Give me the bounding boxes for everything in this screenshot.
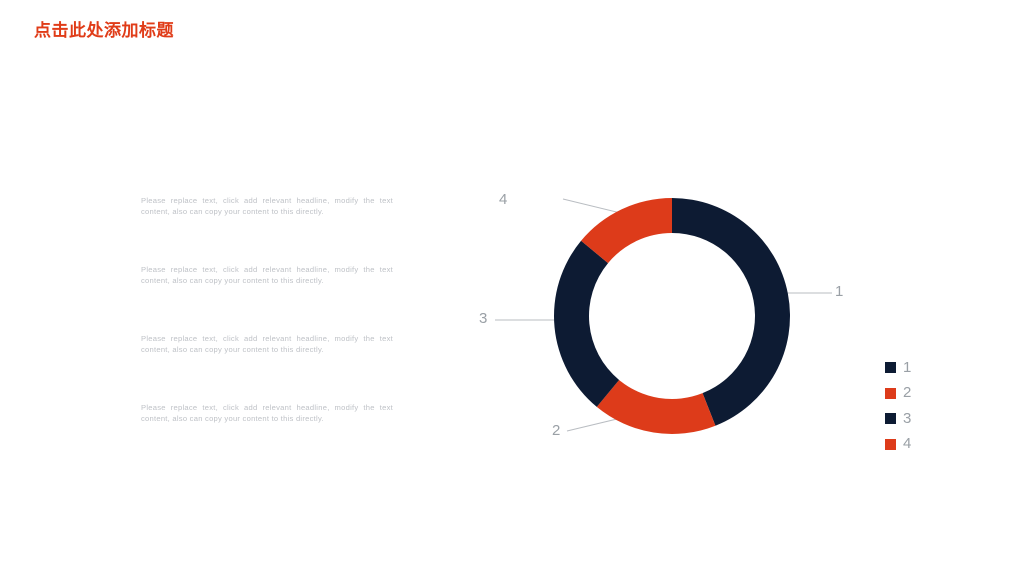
text-block: Please replace text, click add relevant … <box>141 402 393 471</box>
callout-label-3: 3 <box>479 311 487 327</box>
text-block-body: Please replace text, click add relevant … <box>141 402 393 425</box>
text-column: Please replace text, click add relevant … <box>141 195 393 471</box>
callout-label-4: 4 <box>499 192 507 208</box>
text-block-body: Please replace text, click add relevant … <box>141 333 393 356</box>
legend-label: 3 <box>903 411 911 427</box>
legend-label: 2 <box>903 385 911 401</box>
legend-swatch-icon <box>885 388 896 399</box>
legend-swatch-icon <box>885 362 896 373</box>
text-block-body: Please replace text, click add relevant … <box>141 195 393 218</box>
callout-label-2: 2 <box>552 423 560 439</box>
text-block: Please replace text, click add relevant … <box>141 264 393 333</box>
legend-label: 4 <box>903 436 911 452</box>
legend-label: 1 <box>903 360 911 376</box>
donut-chart: 1 2 3 4 <box>455 170 875 460</box>
legend-item[interactable]: 3 <box>885 406 955 432</box>
legend-swatch-icon <box>885 413 896 424</box>
donut-ring <box>553 197 791 435</box>
donut-slice-1[interactable] <box>672 198 790 426</box>
page-title: 点击此处添加标题 <box>34 18 174 44</box>
chart-legend: 1 2 3 4 <box>885 355 955 457</box>
legend-swatch-icon <box>885 439 896 450</box>
legend-item[interactable]: 1 <box>885 355 955 381</box>
donut-slice-2[interactable] <box>597 380 716 434</box>
donut-slice-3[interactable] <box>554 241 619 407</box>
legend-item[interactable]: 4 <box>885 432 955 458</box>
callout-label-1: 1 <box>835 284 843 300</box>
text-block: Please replace text, click add relevant … <box>141 195 393 264</box>
text-block-body: Please replace text, click add relevant … <box>141 264 393 287</box>
text-block: Please replace text, click add relevant … <box>141 333 393 402</box>
legend-item[interactable]: 2 <box>885 381 955 407</box>
donut-svg <box>553 197 791 435</box>
